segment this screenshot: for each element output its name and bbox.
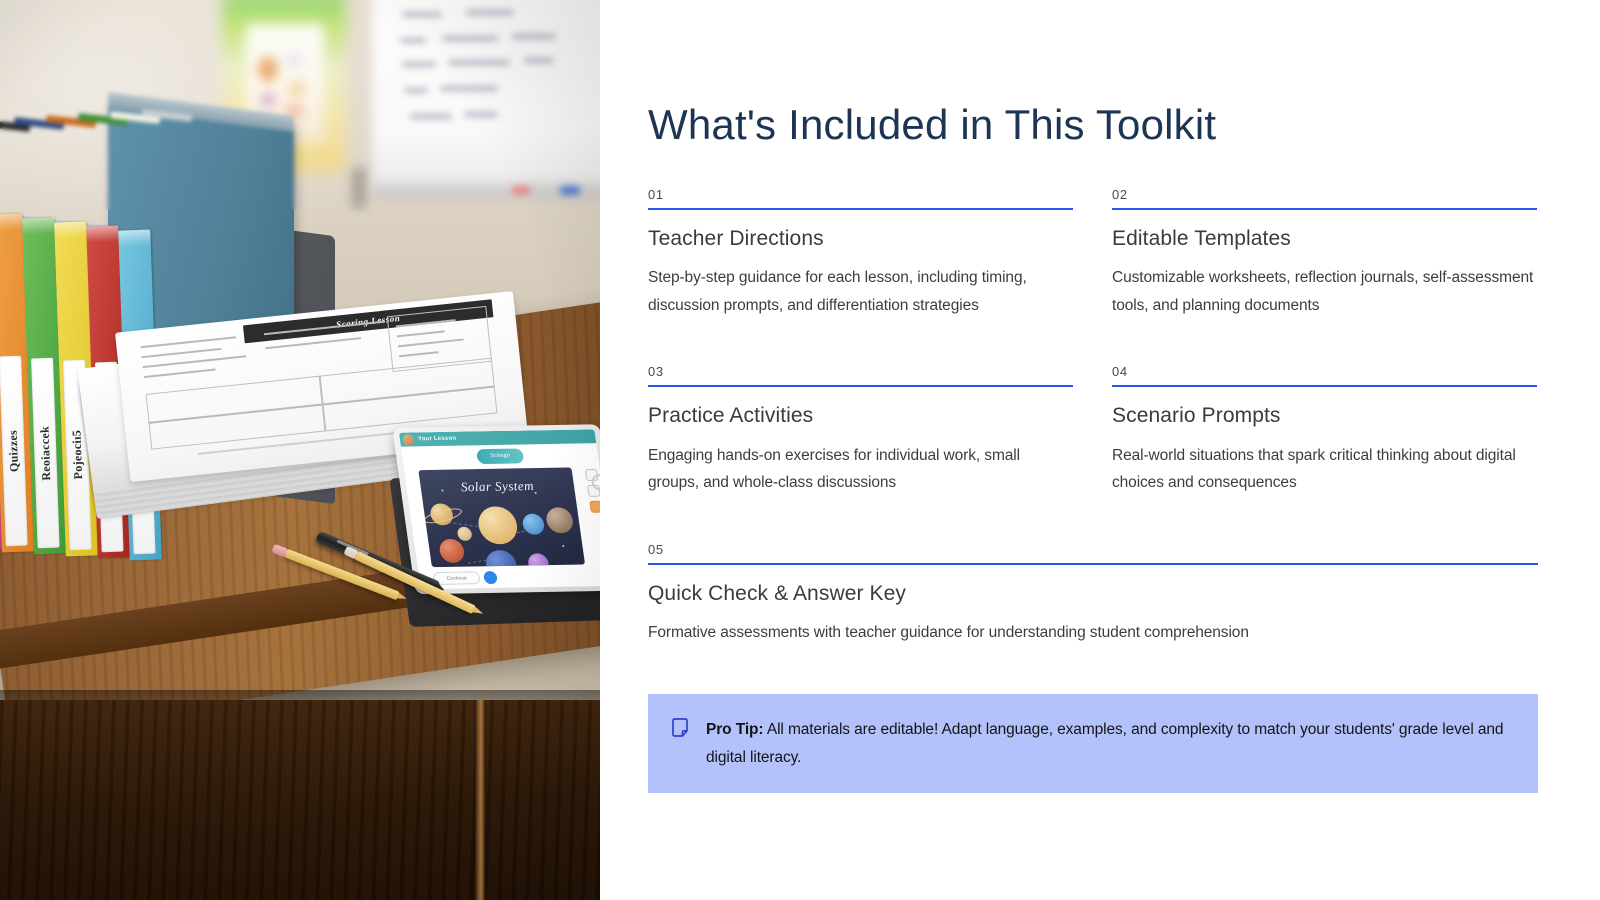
page-title: What's Included in This Toolkit [648, 101, 1216, 149]
app-record-dot [483, 571, 498, 584]
item-heading: Practice Activities [648, 403, 1073, 428]
item-number: 04 [1112, 365, 1537, 385]
note-icon [671, 718, 689, 738]
item-divider [648, 385, 1073, 387]
item-divider [648, 208, 1073, 210]
toolkit-item-03: 03 Practice Activities Engaging hands-on… [648, 365, 1073, 496]
planet-uranus [521, 514, 545, 535]
tablet-screen: Your Lesson Sciengo Solar System [399, 429, 600, 589]
tablet: Your Lesson Sciengo Solar System [374, 397, 600, 642]
item-heading: Scenario Prompts [1112, 403, 1537, 428]
pro-tip-text: Pro Tip: All materials are editable! Ada… [706, 716, 1512, 771]
item-description: Engaging hands-on exercises for individu… [648, 442, 1073, 497]
item-description: Customizable worksheets, reflection jour… [1112, 264, 1537, 319]
desk-front-panel [0, 700, 600, 900]
toolkit-item-05: 05 Quick Check & Answer Key Formative as… [648, 543, 1538, 647]
pro-tip-body: All materials are editable! Adapt langua… [706, 721, 1503, 766]
item-divider [1112, 385, 1537, 387]
whiteboard-leg [352, 168, 366, 208]
binder-tab: Quizzes [0, 356, 28, 547]
item-number: 02 [1112, 188, 1537, 208]
classroom-photo: Quizzes Quizzes Reoiaccek Pojeociı5 [0, 0, 600, 900]
app-logo-label: Sciengo [476, 448, 524, 464]
item-description: Formative assessments with teacher guida… [648, 619, 1538, 647]
toolkit-item-01: 01 Teacher Directions Step-by-step guida… [648, 188, 1073, 319]
slide: Quizzes Quizzes Reoiaccek Pojeociı5 [0, 0, 1600, 900]
whiteboard-writing [392, 6, 600, 166]
app-topbar-label: Your Lesson [399, 429, 596, 446]
item-number: 05 [648, 543, 1538, 563]
planet-earth [457, 527, 473, 541]
item-divider [648, 563, 1538, 565]
solar-system-title: Solar System [420, 477, 575, 496]
planet-neptune [484, 550, 518, 567]
binder-label: Pojeociı5 [69, 430, 86, 480]
binder-label: Reoiaccek [37, 425, 54, 480]
app-topbar: Your Lesson [399, 429, 596, 446]
item-description: Step-by-step guidance for each lesson, i… [648, 264, 1073, 319]
app-logo: Sciengo [476, 448, 524, 464]
planet-mars [438, 539, 466, 563]
pro-tip-label: Pro Tip: [706, 721, 763, 738]
blue-marker [560, 186, 580, 195]
item-heading: Editable Templates [1112, 226, 1537, 251]
red-marker [512, 186, 530, 195]
tablet-body: Your Lesson Sciengo Solar System [392, 424, 600, 594]
content-panel: What's Included in This Toolkit 01 Teach… [600, 0, 1600, 900]
toolkit-item-04: 04 Scenario Prompts Real-world situation… [1112, 365, 1537, 496]
binder-tab: Reoiaccek [31, 358, 60, 549]
planet-saturn [429, 503, 454, 525]
solar-system-card: Solar System [418, 467, 585, 567]
item-heading: Teacher Directions [648, 226, 1073, 251]
planet-venus [527, 553, 550, 567]
toolkit-items-grid: 01 Teacher Directions Step-by-step guida… [648, 188, 1538, 692]
planet-mercury [545, 507, 575, 533]
binder-spine-tops [0, 96, 300, 126]
item-divider [1112, 208, 1537, 210]
item-number: 03 [648, 365, 1073, 385]
desk-panel-seam [474, 700, 486, 900]
app-tool-button [589, 501, 600, 513]
toolkit-item-02: 02 Editable Templates Customizable works… [1112, 188, 1537, 319]
binder-label: Quizzes [5, 430, 21, 473]
item-number: 01 [648, 188, 1073, 208]
item-description: Real-world situations that spark critica… [1112, 442, 1537, 497]
item-heading: Quick Check & Answer Key [648, 581, 1538, 606]
planet-jupiter [476, 506, 520, 544]
pro-tip-callout: Pro Tip: All materials are editable! Ada… [648, 694, 1538, 793]
